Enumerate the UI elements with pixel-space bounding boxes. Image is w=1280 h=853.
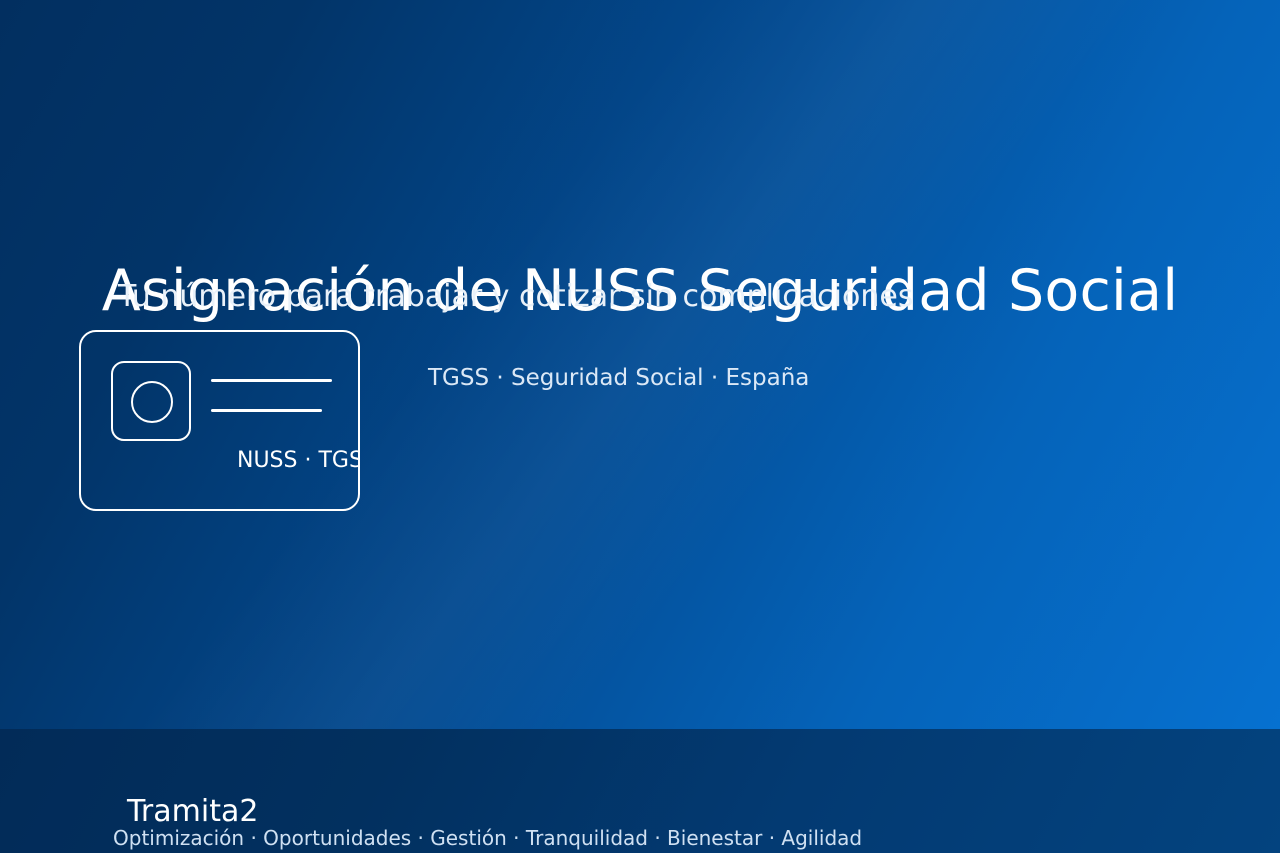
hero-tagline: TGSS · Seguridad Social · España xyxy=(428,364,809,393)
id-card-photo-placeholder-icon xyxy=(111,361,191,441)
slide-root: Asignación de NUSS Seguridad Social Tu n… xyxy=(0,0,1280,853)
id-card-caption: NUSS · TGSS xyxy=(237,448,360,474)
page-subtitle: Tu número para trabajar y cotizar sin co… xyxy=(118,279,913,315)
id-card-illustration: NUSS · TGSS xyxy=(79,330,360,511)
id-card-text-line-2-icon xyxy=(211,409,322,412)
id-card-avatar-circle-icon xyxy=(131,381,173,423)
footer-keywords: Optimización · Oportunidades · Gestión ·… xyxy=(113,826,862,850)
footer-brand-name: Tramita2 xyxy=(127,795,258,828)
id-card-text-line-1-icon xyxy=(211,379,332,382)
